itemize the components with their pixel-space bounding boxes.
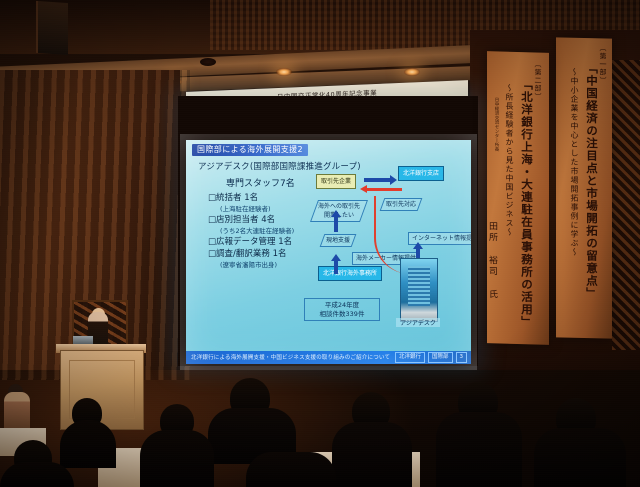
flow-client-box: 取引先企業: [316, 174, 356, 189]
right-wall-carving: [612, 60, 640, 350]
downlight-off: [200, 58, 216, 66]
footer-chip: 国際部: [428, 352, 453, 363]
stat-line-2: 相談件数339件: [308, 310, 376, 319]
flow-overseas-box: 北洋銀行海外事務所: [318, 266, 382, 281]
slide-footer-bar: 北洋銀行による海外展開支援・中国ビジネス支援の取り組みのご紹介について 北洋銀行…: [186, 351, 471, 364]
slide-footer-text: 北洋銀行による海外展開支援・中国ビジネス支援の取り組みのご紹介について: [191, 353, 390, 361]
audience-body: [140, 430, 214, 487]
calligraphy-panel-part2: 〔第二部〕 「北洋銀行上海・大連駐在員事務所の活用」 ～所長経験者から見た中国ビ…: [487, 51, 549, 345]
panel2-speaker: 田所 裕司 氏: [486, 221, 499, 300]
list-item: □調査/翻訳業務 1名: [208, 248, 348, 260]
flow-arrow-up: [334, 216, 338, 232]
photo-caption: アジアデスク: [396, 318, 440, 327]
downlight: [404, 68, 420, 76]
slide-stat-box: 平成24年度 相談件数339件: [304, 298, 380, 321]
audience-body: [436, 412, 522, 487]
audience-body: [0, 462, 74, 487]
panel2-title: 「北洋銀行上海・大連駐在員事務所の活用」: [519, 78, 535, 328]
slide-deck-label: アジアデスク(国際部国際課推進グループ): [198, 160, 361, 172]
office-building-photo: [400, 258, 438, 322]
downlight: [276, 68, 292, 76]
audience-body: [332, 422, 412, 487]
footer-chip: 北洋銀行: [395, 352, 425, 363]
slide-title-bar: 国際部による海外展開支援2: [192, 144, 308, 156]
panel1-title: 「中国経済の注目点と市場開拓の留意点」: [584, 62, 600, 300]
footer-chip-page: 3: [456, 352, 468, 363]
slide-staff-heading: 専門スタッフ7名: [226, 176, 295, 189]
flow-node-consult: 現地支援: [320, 234, 357, 247]
calligraphy-panel-part1: 〔第一部〕 「中国経済の注目点と市場開拓の留意点」 ～中小企業を中心とした市場開…: [556, 37, 612, 338]
audience-body: [534, 428, 626, 487]
flow-arrow-right: [364, 178, 390, 182]
flow-arrow-red-left: [366, 188, 402, 191]
slide-footer-chips: 北洋銀行 国際部 3: [395, 352, 467, 363]
stat-line-1: 平成24年度: [308, 301, 376, 310]
conference-photo: 日中国交正常化40周年記念事業 中国ビジネスセミナー in 旭川 ～ 道内企業の…: [0, 0, 640, 487]
flow-node-consult-label: 現地支援: [326, 236, 350, 245]
panel2-subtitle: ～所長経験者から見た中国ビジネス～: [504, 84, 515, 237]
panel1-subtitle: ～中小企業を中心とした市場開拓事例に学ぶ～: [569, 68, 580, 257]
projection-screen: 国際部による海外展開支援2 アジアデスク(国際部国際課推進グループ) 専門スタッ…: [186, 140, 471, 364]
panel2-credit: 日中経済交流センター所長: [493, 97, 499, 151]
audience-body: [60, 420, 116, 468]
flow-branch-box: 北洋銀行支店: [398, 166, 444, 181]
flow-arrow-up-2: [334, 260, 338, 274]
audience-body: [246, 452, 336, 487]
